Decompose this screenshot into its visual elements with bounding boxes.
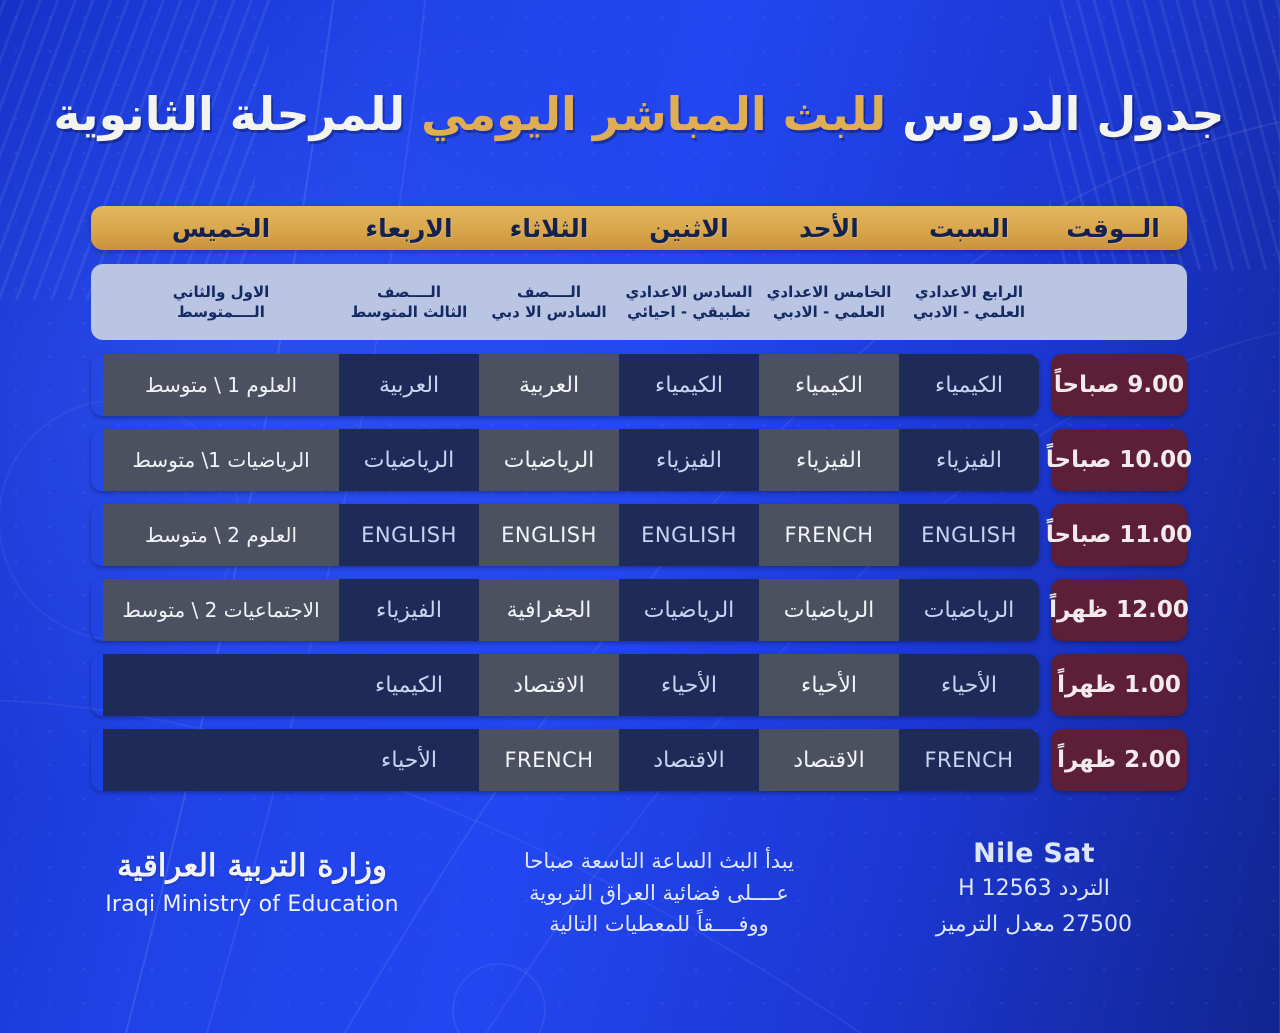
schedule-cell: العلوم 1 \ متوسط (104, 354, 340, 416)
table-subheader-cell: الخامس الاعداديالعلمي - الادبي (760, 264, 900, 340)
table-subheader-cell-empty (1040, 264, 1188, 340)
table-header-cell: الأحد (760, 206, 900, 250)
schedule-cell: FRENCH (900, 729, 1040, 791)
schedule-cell: الكيمياء (760, 354, 900, 416)
time-badge: 11.00 صباحاً (1052, 504, 1188, 566)
table-row: 9.00 صباحاًالكيمياءالكيمياءالكيمياءالعرب… (92, 354, 1188, 416)
table-row: 11.00 صباحاًENGLISHFRENCHENGLISHENGLISHE… (92, 504, 1188, 566)
subheader-line-1: الــــصف (518, 282, 582, 302)
schedule-cell: الاجتماعيات 2 \ متوسط (104, 579, 340, 641)
schedule-cell: الفيزياء (900, 429, 1040, 491)
table-header-cell: السبت (900, 206, 1040, 250)
ministry-logo: وزارة التربية العراقية Iraqi Ministry of… (88, 848, 418, 917)
schedule-cell-empty (104, 729, 340, 791)
satellite-symbol-rate: 27500 معدل الترميز (880, 908, 1190, 941)
schedule-cell: الرياضيات (480, 429, 620, 491)
footer: وزارة التربية العراقية Iraqi Ministry of… (0, 826, 1280, 986)
schedule-cell: الكيمياء (620, 354, 760, 416)
notice-line-2: عــــلى فضائية العراق التربوية (460, 878, 860, 910)
schedule-cell: الأحياء (340, 729, 480, 791)
table-header-row: الــوقتالسبتالأحدالاثنينالثلاثاءالاربعاء… (92, 206, 1188, 250)
schedule-cell: ENGLISH (340, 504, 480, 566)
subheader-line-1: الخامس الاعدادي (768, 282, 893, 302)
table-subheader-cell: السادس الاعداديتطبيقي - احيائي (620, 264, 760, 340)
table-row: 1.00 ظهراًالأحياءالأحياءالأحياءالاقتصادا… (92, 654, 1188, 716)
title-part-3: للمرحلة الثانوية (54, 87, 406, 141)
schedule-cell: FRENCH (480, 729, 620, 791)
table-subheader-cell: الــــصفالسادس الا دبي (480, 264, 620, 340)
schedule-cell: ENGLISH (900, 504, 1040, 566)
row-subject-strip: FRENCHالاقتصادالاقتصادFRENCHالأحياء (92, 729, 1040, 791)
schedule-cell: الرياضيات (760, 579, 900, 641)
subheader-line-1: السادس الاعدادي (626, 282, 753, 302)
schedule-cell: الرياضيات (900, 579, 1040, 641)
table-header-cell: الثلاثاء (480, 206, 620, 250)
schedule-cell: العربية (480, 354, 620, 416)
table-subheader-cell: الاول والثانيالــــمتوسط (104, 264, 340, 340)
schedule-cell: ENGLISH (620, 504, 760, 566)
satellite-info: Nile Sat التردد 12563 H 27500 معدل الترم… (880, 838, 1190, 941)
table-row: 10.00 صباحاًالفيزياءالفيزياءالفيزياءالري… (92, 429, 1188, 491)
schedule-cell: العربية (340, 354, 480, 416)
row-subject-strip: الكيمياءالكيمياءالكيمياءالعربيةالعربيةال… (92, 354, 1040, 416)
time-badge: 12.00 ظهراً (1052, 579, 1188, 641)
broadcast-notice: يبدأ البث الساعة التاسعة صباحا عــــلى ف… (460, 846, 860, 941)
table-header-cell: الــوقت (1040, 206, 1188, 250)
ministry-logo-english: Iraqi Ministry of Education (88, 892, 418, 917)
time-badge: 10.00 صباحاً (1052, 429, 1188, 491)
subheader-line-2: العلمي - الادبي (914, 302, 1026, 322)
table-row: 2.00 ظهراًFRENCHالاقتصادالاقتصادFRENCHال… (92, 729, 1188, 791)
schedule-cell: الرياضيات (340, 429, 480, 491)
time-badge: 2.00 ظهراً (1052, 729, 1188, 791)
subheader-line-2: السادس الا دبي (492, 302, 607, 322)
subheader-line-2: تطبيقي - احيائي (628, 302, 752, 322)
schedule-cell: العلوم 2 \ متوسط (104, 504, 340, 566)
schedule-cell: الكيمياء (340, 654, 480, 716)
table-subheader-row: الرابع الاعداديالعلمي - الادبيالخامس الا… (92, 264, 1188, 340)
schedule-cell: الكيمياء (900, 354, 1040, 416)
satellite-frequency: التردد 12563 H (880, 872, 1190, 905)
table-header-cell: الخميس (104, 206, 340, 250)
schedule-cell: الأحياء (900, 654, 1040, 716)
time-badge: 9.00 صباحاً (1052, 354, 1188, 416)
schedule-cell: الفيزياء (620, 429, 760, 491)
schedule-cell: الجغرافية (480, 579, 620, 641)
schedule-table: الــوقتالسبتالأحدالاثنينالثلاثاءالاربعاء… (92, 206, 1188, 804)
table-body: 9.00 صباحاًالكيمياءالكيمياءالكيمياءالعرب… (92, 354, 1188, 791)
schedule-cell: الرياضيات 1\ متوسط (104, 429, 340, 491)
schedule-cell: ENGLISH (480, 504, 620, 566)
row-subject-strip: الفيزياءالفيزياءالفيزياءالرياضياتالرياضي… (92, 429, 1040, 491)
subheader-line-1: الاول والثاني (174, 282, 271, 302)
time-badge: 1.00 ظهراً (1052, 654, 1188, 716)
table-subheader-cell: الرابع الاعداديالعلمي - الادبي (900, 264, 1040, 340)
subheader-line-1: الرابع الاعدادي (916, 282, 1024, 302)
satellite-name: Nile Sat (880, 838, 1190, 869)
schedule-cell: الفيزياء (340, 579, 480, 641)
table-header-cell: الاثنين (620, 206, 760, 250)
row-subject-strip: ENGLISHFRENCHENGLISHENGLISHENGLISHالعلوم… (92, 504, 1040, 566)
subheader-line-2: الثالث المتوسط (352, 302, 468, 322)
schedule-cell: الأحياء (620, 654, 760, 716)
ministry-logo-arabic: وزارة التربية العراقية (88, 848, 418, 884)
title-part-1: جدول الدروس (903, 87, 1225, 141)
page-title: جدول الدروس للبث المباشر اليومي للمرحلة … (0, 86, 1280, 144)
table-row: 12.00 ظهراًالرياضياتالرياضياتالرياضياتال… (92, 579, 1188, 641)
schedule-cell: FRENCH (760, 504, 900, 566)
schedule-cell: الأحياء (760, 654, 900, 716)
row-subject-strip: الأحياءالأحياءالأحياءالاقتصادالكيمياء (92, 654, 1040, 716)
subheader-line-2: العلمي - الادبي (774, 302, 886, 322)
schedule-cell: الاقتصاد (480, 654, 620, 716)
schedule-cell: الفيزياء (760, 429, 900, 491)
notice-line-1: يبدأ البث الساعة التاسعة صباحا (460, 846, 860, 878)
schedule-cell: الاقتصاد (760, 729, 900, 791)
row-subject-strip: الرياضياتالرياضياتالرياضياتالجغرافيةالفي… (92, 579, 1040, 641)
schedule-cell: الرياضيات (620, 579, 760, 641)
table-subheader-cell: الــــصفالثالث المتوسط (340, 264, 480, 340)
title-part-2-highlight: للبث المباشر اليومي (422, 87, 887, 141)
subheader-line-1: الــــصف (378, 282, 442, 302)
subheader-line-2: الــــمتوسط (178, 302, 266, 322)
schedule-cell-empty (104, 654, 340, 716)
table-header-cell: الاربعاء (340, 206, 480, 250)
notice-line-3: ووفــــقاً للمعطيات التالية (460, 909, 860, 941)
schedule-cell: الاقتصاد (620, 729, 760, 791)
